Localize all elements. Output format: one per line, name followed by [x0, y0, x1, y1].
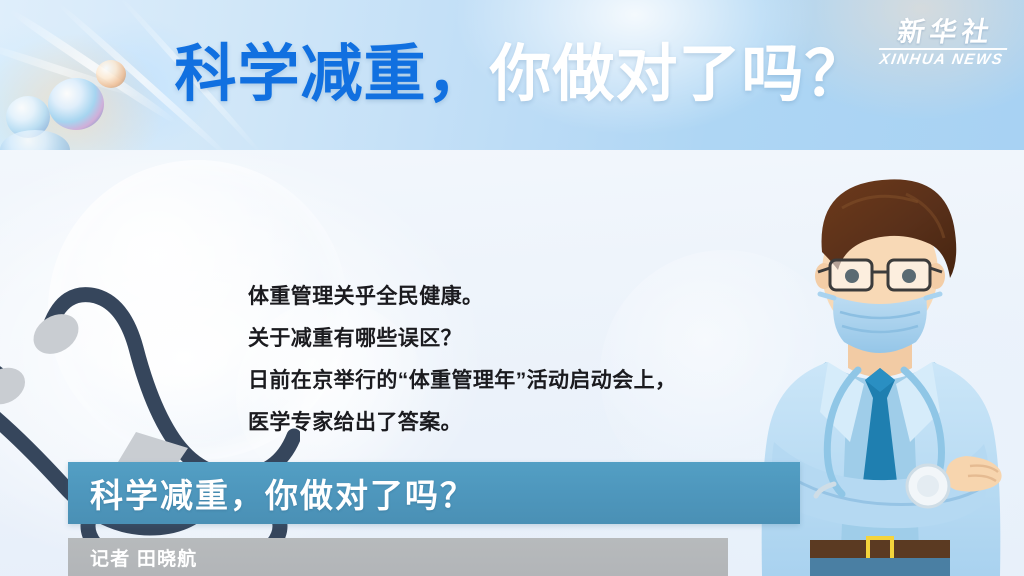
poster-canvas: 科学减重，你做对了吗？ 新华社 XINHUA NEWS 体重管理关乎全民健康。 …	[0, 0, 1024, 576]
page-title: 科学减重，你做对了吗？	[0, 0, 1024, 150]
caption-headline-bar: 科学减重，你做对了吗？	[68, 462, 800, 524]
xinhua-logo-en: XINHUA NEWS	[872, 52, 1011, 69]
page-title-secondary: 你做对了吗？	[490, 44, 868, 106]
reporter-credit-bar: 记者 田晓航	[68, 538, 728, 576]
doctor-eye	[902, 269, 916, 283]
doctor-trousers	[810, 558, 950, 576]
body-line: 体重管理关乎全民健康。	[248, 276, 878, 318]
header-banner: 科学减重，你做对了吗？ 新华社 XINHUA NEWS	[0, 0, 1024, 150]
caption-headline-text: 科学减重，你做对了吗？	[68, 469, 475, 517]
xinhua-logo-cn: 新华社	[876, 18, 1016, 46]
xinhua-logo: 新华社 XINHUA NEWS	[872, 18, 1016, 69]
doctor-stethoscope-diaphragm	[917, 475, 939, 497]
reporter-credit-text: 记者 田晓航	[68, 544, 197, 571]
page-title-primary: 科学减重，	[174, 44, 489, 106]
body-line: 医学专家给出了答案。	[248, 402, 878, 444]
xinhua-logo-rule	[879, 48, 1007, 50]
body-line: 关于减重有哪些误区？	[248, 318, 878, 360]
body-paragraph: 体重管理关乎全民健康。 关于减重有哪些误区？ 日前在京举行的“体重管理年”活动启…	[248, 276, 878, 444]
body-line: 日前在京举行的“体重管理年”活动启动会上，	[248, 360, 878, 402]
doctor-belt	[810, 540, 950, 558]
